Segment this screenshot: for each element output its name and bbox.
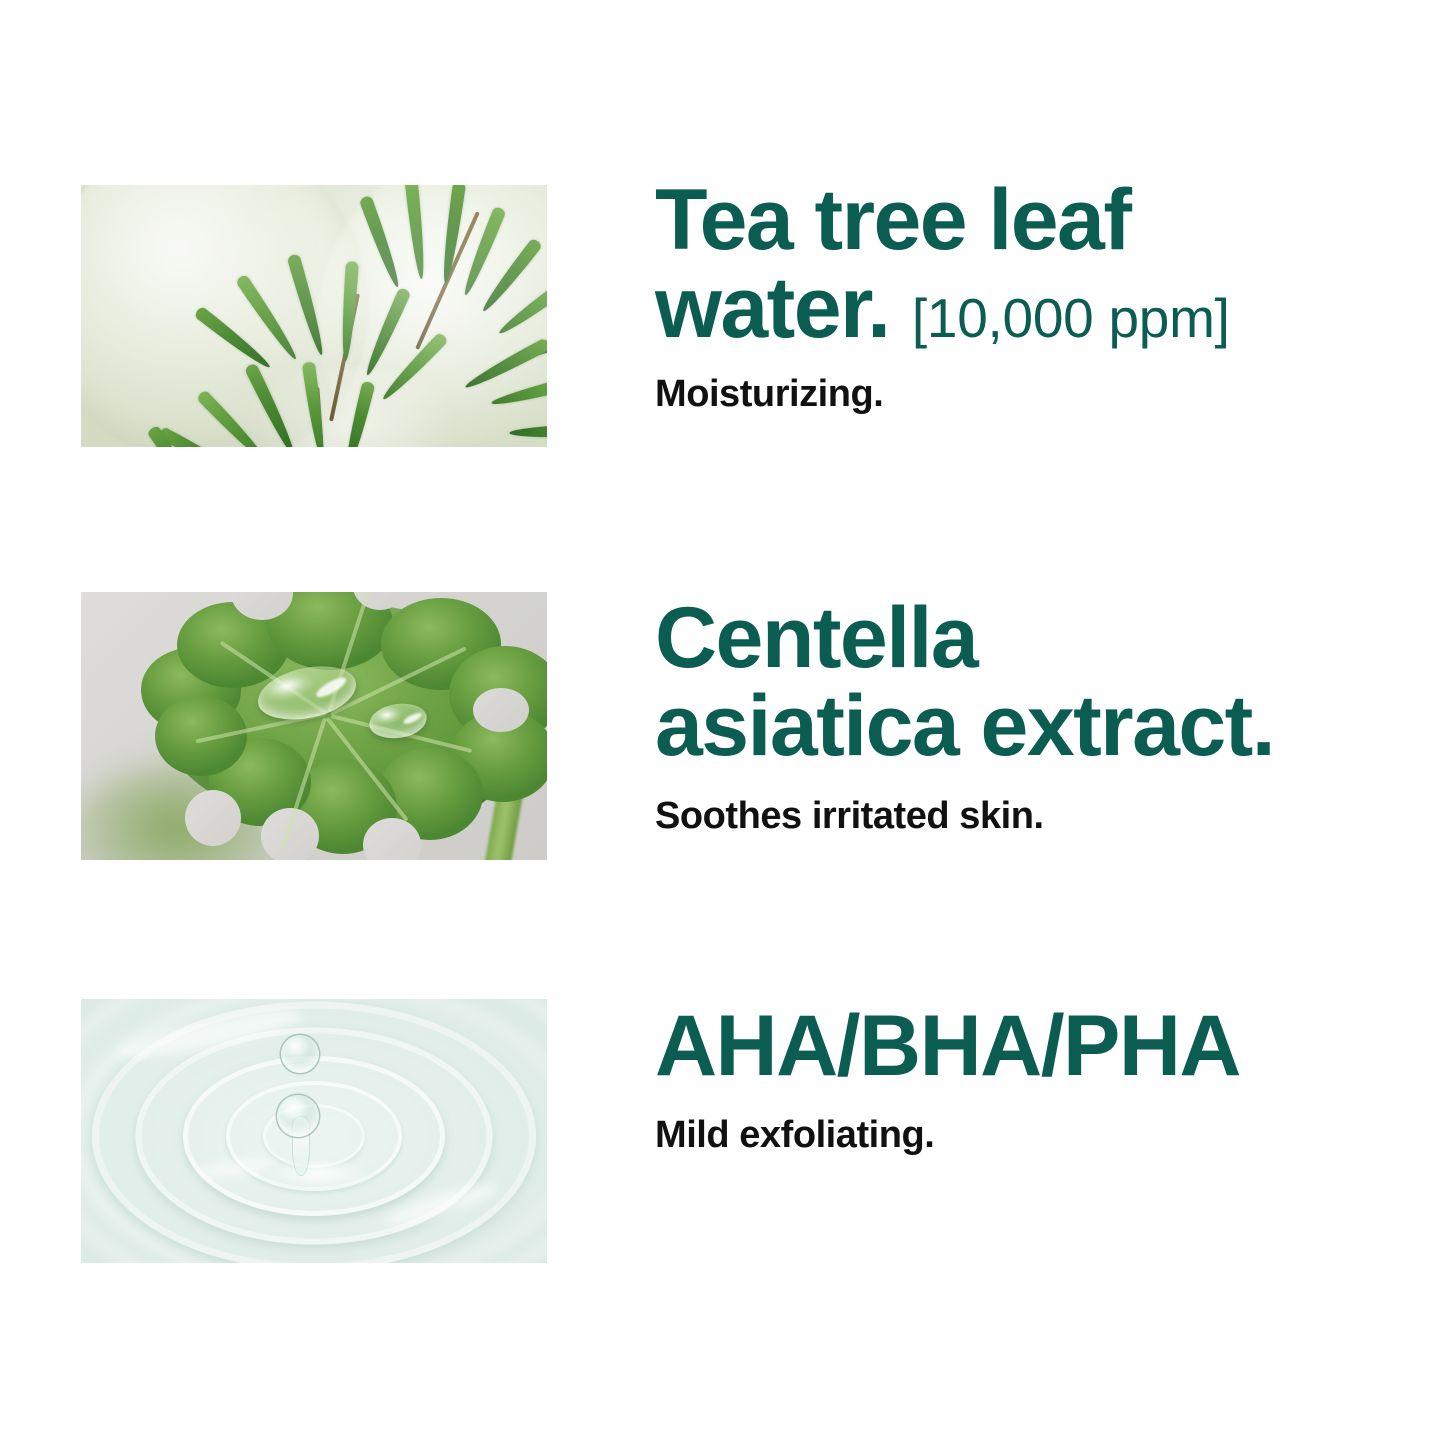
ingredient-infographic: Tea tree leafwater. [10,000 ppm] Moistur… [0, 0, 1445, 1445]
acids-benefit: Mild exfoliating. [655, 1115, 1435, 1157]
droplet-shine [402, 711, 423, 726]
acids-headline: AHA/BHA/PHA [655, 1003, 1435, 1091]
tea-tree-copy-block: Tea tree leafwater. [10,000 ppm] Moistur… [655, 177, 1415, 416]
falling-droplet [281, 1035, 319, 1073]
splash-droplet [277, 1095, 319, 1137]
centella-asiatica-photo [81, 592, 547, 860]
water-droplet-ripple-photo [81, 999, 547, 1263]
tea-tree-photo-canvas [81, 185, 547, 447]
centella-leaf-notch [473, 688, 529, 732]
acids-copy-block: AHA/BHA/PHA Mild exfoliating. [655, 1003, 1435, 1157]
centella-copy-block: Centellaasiatica extract. Soothes irrita… [655, 595, 1435, 838]
centella-photo-canvas [81, 592, 547, 860]
centella-headline-line1: Centella [655, 590, 977, 686]
centella-leaf-notch [185, 790, 241, 846]
tea-tree-leaf-water-photo [81, 185, 547, 447]
tea-tree-headline-line2: water. [655, 260, 890, 356]
water-photo-canvas [81, 999, 547, 1263]
droplet-shine [314, 674, 349, 701]
centella-benefit: Soothes irritated skin. [655, 796, 1435, 838]
tea-tree-headline-line1: Tea tree leaf [655, 172, 1130, 268]
tea-tree-headline: Tea tree leafwater. [10,000 ppm] [655, 177, 1415, 352]
centella-headline-line2: asiatica extract. [655, 678, 1274, 774]
tea-tree-benefit: Moisturizing. [655, 374, 1415, 416]
centella-headline: Centellaasiatica extract. [655, 595, 1435, 770]
centella-leaf-lobe [155, 696, 247, 776]
splash-base [259, 1159, 379, 1195]
tea-tree-dose: [10,000 ppm] [912, 287, 1230, 349]
